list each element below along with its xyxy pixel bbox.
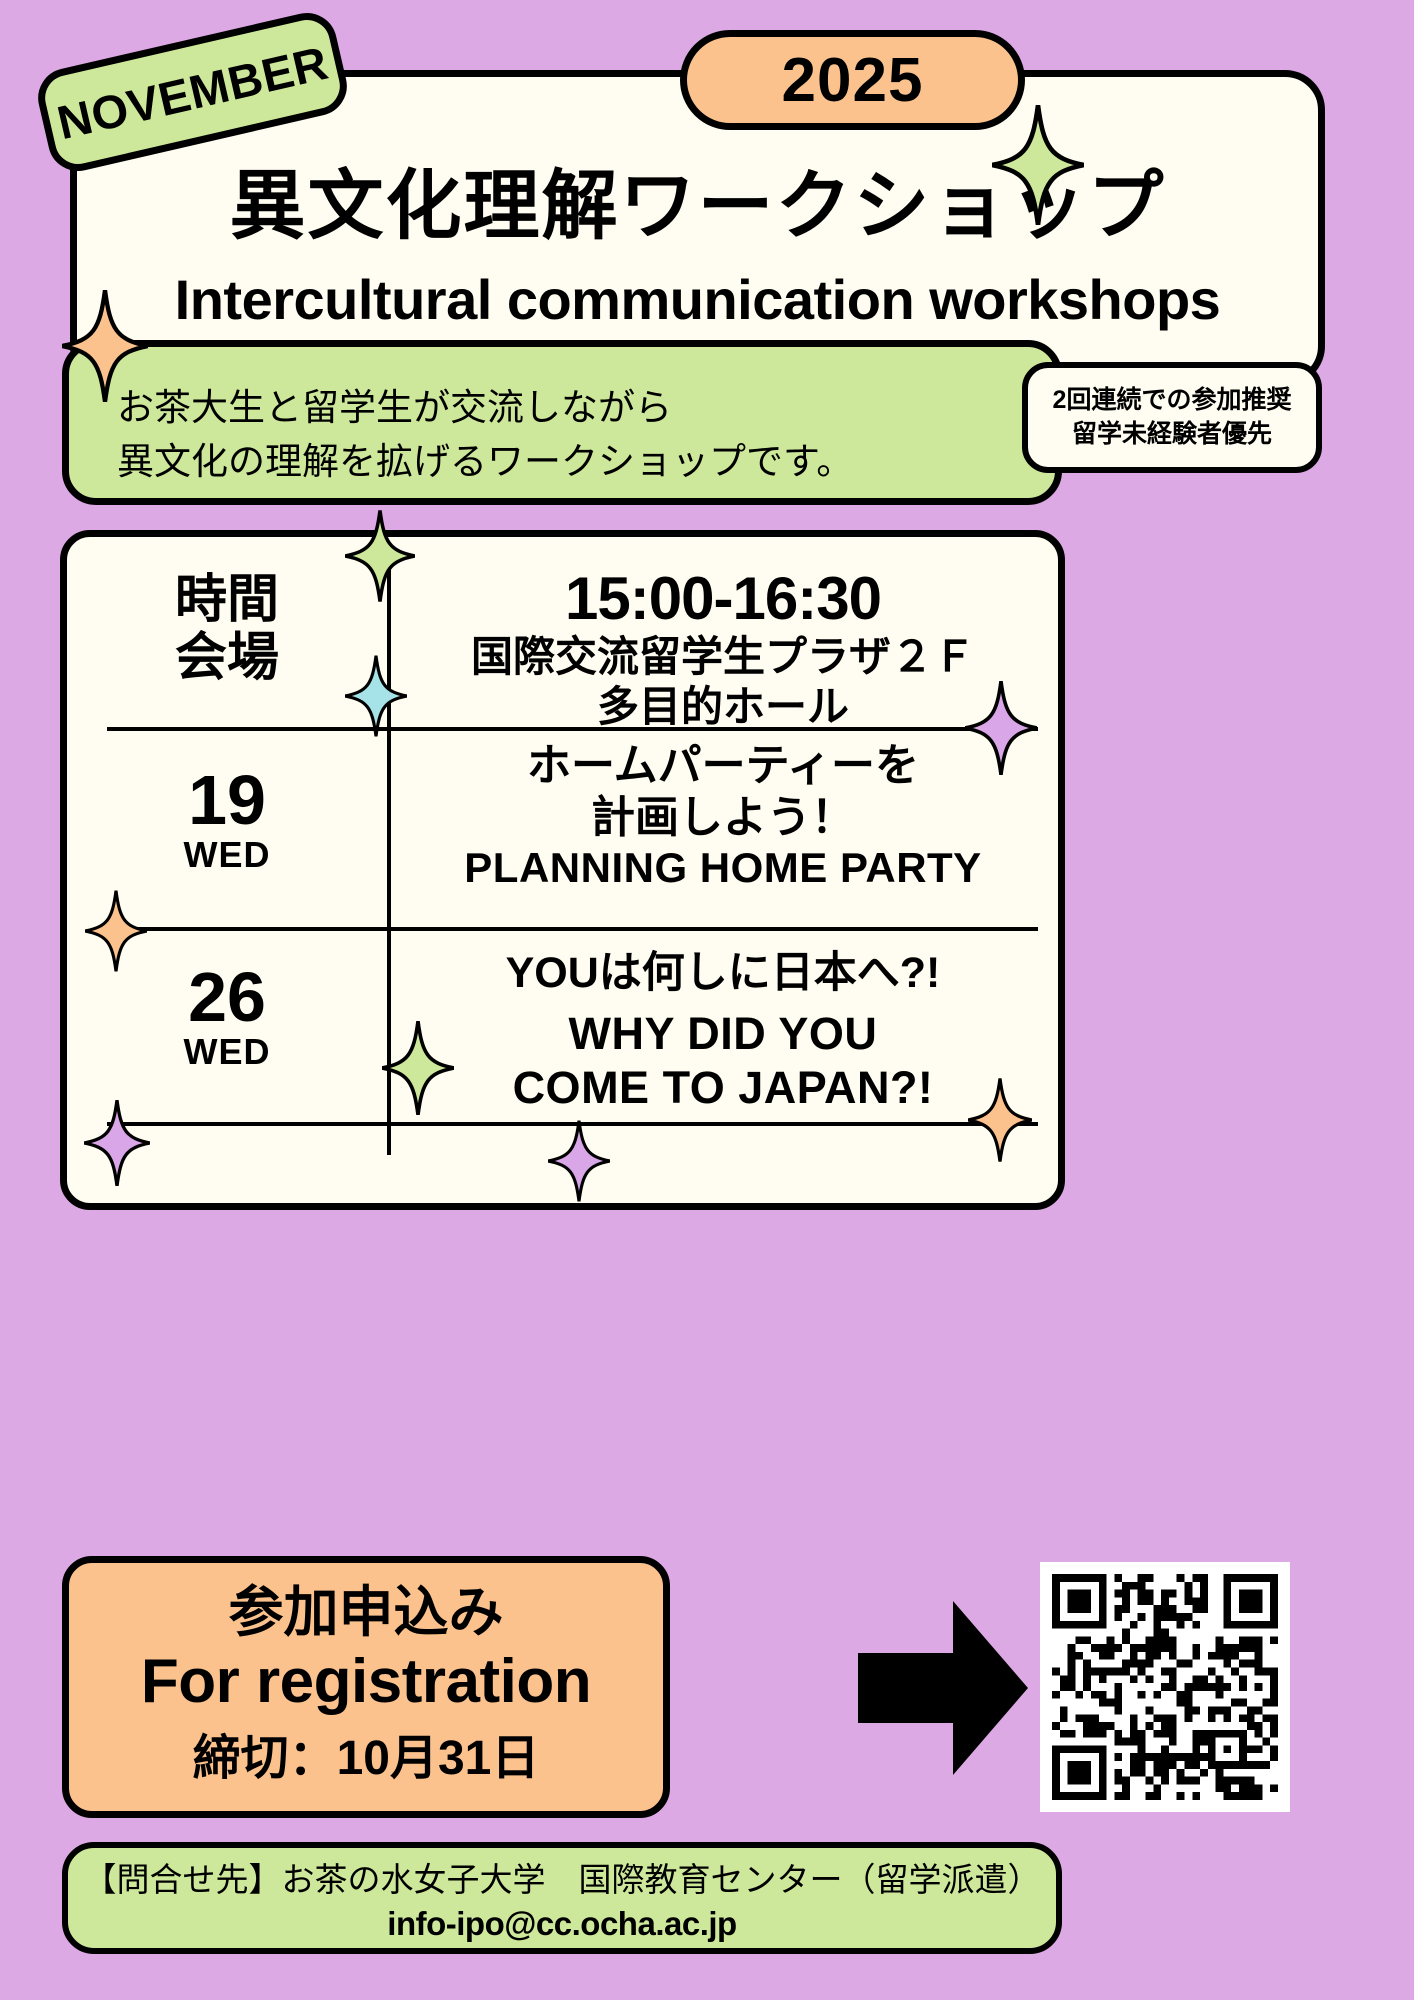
sparkle-green-table-low (382, 1020, 454, 1116)
registration-deadline: 締切：10月31日 (69, 1735, 663, 1783)
sparkle-cyan-table (345, 655, 407, 737)
lead-card: お茶大生と留学生が交流しながら 異文化の理解を拡げるワークショップです。 (62, 340, 1062, 505)
poster-root: 異文化理解ワークショップ Intercultural communication… (0, 0, 1414, 2000)
schedule-row-2-title-en: WHY DID YOU COME TO JAPAN?! (393, 1007, 1053, 1115)
schedule-row-2-title-ja: YOUは何しに日本へ?! (393, 949, 1053, 998)
qr-code-icon[interactable] (1040, 1562, 1290, 1812)
table-divider-2 (107, 927, 1038, 931)
footer-email[interactable]: info-ipo@cc.ocha.ac.jp (68, 1906, 1056, 1942)
schedule-row-1-day: 19 (67, 765, 387, 835)
sparkle-purple-right (965, 680, 1037, 776)
note-line-2: 留学未経験者優先 (1072, 418, 1272, 452)
sparkle-orange-left-mid (85, 890, 147, 972)
page-title-ja: 異文化理解ワークショップ (77, 169, 1318, 245)
schedule-row-1-title-en: PLANNING HOME PARTY (393, 847, 1053, 889)
sparkle-green-table-top (345, 510, 415, 602)
schedule-row-1-title-ja: ホームパーティーを 計画しよう！ (393, 740, 1053, 844)
sparkle-orange-left (62, 290, 148, 402)
schedule-grid: 時間 会場 15:00-16:30 国際交流留学生プラザ２Ｆ 多目的ホール 19… (67, 537, 1058, 1203)
schedule-header-time: 15:00-16:30 (393, 569, 1053, 629)
year-badge: 2025 (680, 30, 1025, 130)
sparkle-orange-right-low (968, 1078, 1032, 1162)
registration-title-ja: 参加申込み (69, 1585, 663, 1640)
footer-card: 【問合せ先】お茶の水女子大学 国際教育センター（留学派遣） info-ipo@c… (62, 1842, 1062, 1954)
year-badge-label: 2025 (782, 45, 924, 116)
schedule-row-1-dow: WED (67, 837, 387, 873)
lead-text: お茶大生と留学生が交流しながら 異文化の理解を拡げるワークショップです。 (117, 381, 853, 488)
arrow-right-icon (858, 1593, 1028, 1783)
schedule-header-label: 時間 会場 (67, 571, 387, 687)
schedule-row-2-day: 26 (67, 962, 387, 1032)
page-title-en: Intercultural communication workshops (77, 272, 1318, 328)
note-line-1: 2回連続での参加推奨 (1053, 384, 1292, 418)
footer-organization: 【問合せ先】お茶の水女子大学 国際教育センター（留学派遣） (68, 1862, 1056, 1898)
sparkle-purple-left-low (84, 1100, 150, 1186)
sparkle-purple-bottom (548, 1120, 610, 1202)
registration-card[interactable]: 参加申込み For registration 締切：10月31日 (62, 1556, 670, 1818)
sparkle-green-top-right (992, 105, 1084, 225)
schedule-table: 時間 会場 15:00-16:30 国際交流留学生プラザ２Ｆ 多目的ホール 19… (60, 530, 1065, 1210)
registration-title-en: For registration (69, 1651, 663, 1713)
schedule-header-place: 国際交流留学生プラザ２Ｆ 多目的ホール (393, 632, 1053, 731)
schedule-row-2-dow: WED (67, 1034, 387, 1070)
note-card: 2回連続での参加推奨 留学未経験者優先 (1022, 362, 1322, 473)
qr-code-canvas (1052, 1574, 1278, 1800)
